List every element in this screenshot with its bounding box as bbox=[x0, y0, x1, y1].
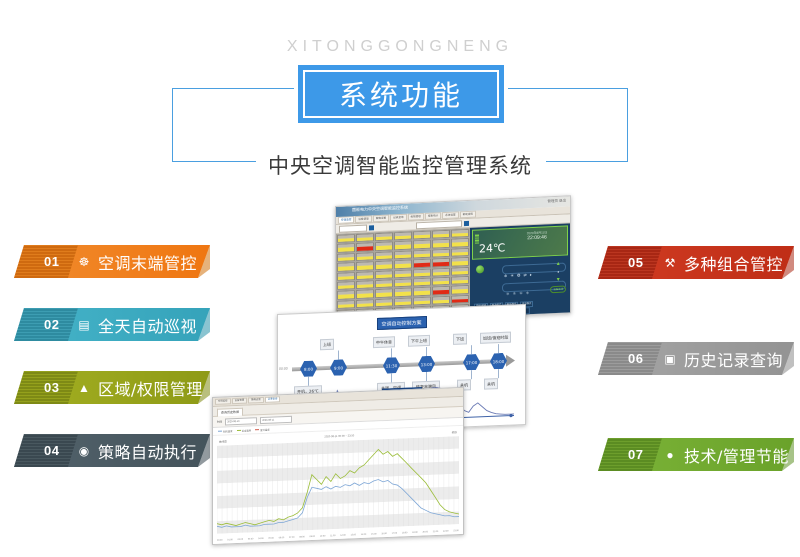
device-cell[interactable] bbox=[451, 295, 469, 304]
device-cell[interactable] bbox=[337, 253, 355, 262]
device-cell[interactable] bbox=[432, 230, 450, 239]
device-cell[interactable] bbox=[432, 258, 450, 267]
feature-banner-03[interactable]: 03 ▲ 区域/权限管理 bbox=[14, 371, 210, 404]
feature-number: 04 bbox=[44, 434, 59, 467]
fan-mid-icon: ⚛ bbox=[513, 291, 517, 296]
history-panel-title: 查询历史数据 bbox=[217, 408, 243, 417]
area-select[interactable] bbox=[339, 224, 367, 232]
timeline-tick bbox=[426, 372, 427, 381]
timeline-caption-above: 中午休息 bbox=[373, 336, 395, 347]
timeline-caption-above: 下班 bbox=[453, 333, 467, 344]
date-start-input[interactable]: 2020-08-10 bbox=[225, 417, 257, 425]
camera-icon: ● bbox=[662, 438, 678, 471]
dashboard-tab[interactable]: 报表统计 bbox=[425, 212, 441, 220]
dashboard-tab[interactable]: 记录查询 bbox=[390, 214, 406, 222]
timeline-caption-above: 上班 bbox=[320, 339, 334, 350]
timeline-tick bbox=[391, 348, 392, 357]
timeline-node[interactable]: 18:00 bbox=[490, 353, 507, 370]
search-input[interactable] bbox=[416, 220, 462, 229]
device-cell[interactable] bbox=[337, 281, 355, 290]
page-title-box: 系统功能 bbox=[298, 65, 504, 123]
device-cell[interactable] bbox=[451, 285, 469, 294]
screenshot-history-records[interactable]: 空调监控设备管理策略设置记录查询 查询历史数据 时间 2020-08-10 20… bbox=[212, 387, 464, 545]
device-cell[interactable] bbox=[356, 243, 374, 252]
feature-banner-02[interactable]: 02 ▤ 全天自动巡视 bbox=[14, 308, 210, 341]
x-tick-label: 16:00 bbox=[381, 533, 386, 535]
x-tick-label: 10:00 bbox=[320, 535, 325, 537]
device-cell[interactable] bbox=[394, 269, 412, 278]
device-cell[interactable] bbox=[413, 296, 431, 305]
current-temperature: 24℃ bbox=[479, 241, 505, 255]
history-tab[interactable]: 设备管理 bbox=[232, 398, 248, 405]
timeline-node[interactable]: 17:00 bbox=[463, 354, 480, 371]
device-cell[interactable] bbox=[413, 278, 431, 287]
device-cell[interactable] bbox=[394, 250, 412, 259]
timeline-tick bbox=[498, 344, 499, 353]
cloud-icon: ▲ bbox=[76, 371, 92, 404]
feature-label: 历史记录查询 bbox=[684, 342, 783, 375]
device-cell[interactable] bbox=[375, 289, 393, 298]
x-tick-label: 20:00 bbox=[422, 531, 427, 533]
device-cell[interactable] bbox=[451, 257, 469, 266]
chart-range: 2020-08-11 00:00 ~ 23:50 bbox=[324, 434, 354, 439]
timeline-node[interactable]: 8:00 bbox=[300, 360, 317, 377]
device-cell[interactable] bbox=[451, 248, 469, 257]
status-badge: 设备在线 bbox=[550, 286, 566, 294]
clock-display: 2020年8月11日 22:09:46 bbox=[517, 230, 557, 242]
timeline-tick bbox=[391, 373, 392, 382]
x-tick-label: 11:00 bbox=[330, 535, 335, 537]
status-side-column: ▲ ● ▼ 设备在线 bbox=[550, 262, 566, 294]
timeline-node[interactable]: 13:00 bbox=[418, 356, 435, 373]
feature-number: 07 bbox=[628, 438, 643, 471]
timeline-start-label: 00:00 bbox=[279, 367, 288, 371]
dashboard-tab[interactable]: 设备管理 bbox=[355, 215, 371, 223]
filter-label: 时间 bbox=[217, 420, 222, 424]
feature-label: 策略自动执行 bbox=[98, 434, 197, 467]
device-cell[interactable] bbox=[432, 296, 450, 305]
feature-number: 03 bbox=[44, 371, 59, 404]
device-cell[interactable] bbox=[337, 243, 355, 252]
feature-banner-01[interactable]: 01 ☸ 空调末端管控 bbox=[14, 245, 210, 278]
archive-icon: ▣ bbox=[662, 342, 678, 375]
x-tick-label: 02:00 bbox=[238, 539, 243, 541]
feature-banner-04[interactable]: 04 ◉ 策略自动执行 bbox=[14, 434, 210, 467]
x-tick-label: 12:00 bbox=[340, 535, 345, 537]
device-cell[interactable] bbox=[356, 290, 374, 299]
device-cell[interactable] bbox=[337, 262, 355, 271]
device-cell[interactable] bbox=[375, 298, 393, 307]
timeline-caption-above: 下午上班 bbox=[408, 335, 430, 346]
feature-label: 全天自动巡视 bbox=[98, 308, 197, 341]
wind-icon: ⇄ bbox=[523, 272, 526, 277]
feature-label: 空调末端管控 bbox=[98, 245, 197, 278]
feature-banner-05[interactable]: 05 ⚒ 多种组合管控 bbox=[598, 246, 794, 279]
legend-item: 回风温度 bbox=[218, 429, 233, 434]
x-tick-label: 08:00 bbox=[299, 536, 304, 538]
device-cell[interactable] bbox=[337, 272, 355, 281]
dashboard-tab[interactable]: 系统设置 bbox=[442, 211, 458, 219]
device-cell[interactable] bbox=[337, 300, 355, 309]
history-plot-wrapper: 曲线图 2020-08-11 00:00 ~ 23:50 缩放 00:0001:… bbox=[213, 426, 463, 545]
x-tick-label: 05:00 bbox=[268, 538, 273, 540]
up-arrow-icon: ▲ bbox=[556, 262, 561, 267]
fan-low-icon: ⚛ bbox=[506, 291, 510, 296]
device-cell[interactable] bbox=[356, 299, 374, 308]
dashboard-tab[interactable]: 策略设置 bbox=[373, 215, 389, 223]
dry-icon: ♦ bbox=[530, 272, 532, 277]
x-tick-label: 07:00 bbox=[289, 537, 294, 539]
device-cell[interactable] bbox=[375, 232, 393, 241]
device-cell[interactable] bbox=[413, 259, 431, 268]
x-tick-label: 13:00 bbox=[350, 534, 355, 536]
history-tab[interactable]: 记录查询 bbox=[265, 396, 281, 403]
device-cell[interactable] bbox=[451, 276, 469, 285]
x-tick-label: 03:00 bbox=[248, 538, 253, 540]
device-cell[interactable] bbox=[375, 261, 393, 270]
device-cell[interactable] bbox=[375, 242, 393, 251]
device-cell[interactable] bbox=[356, 261, 374, 270]
timeline-tick bbox=[308, 377, 309, 386]
device-cell[interactable] bbox=[451, 238, 469, 247]
device-cell[interactable] bbox=[394, 241, 412, 250]
dashboard-window-title: 国能电力中央空调智能监控系统 bbox=[352, 205, 408, 214]
fan-speed-row[interactable]: ⚛⚛ ⚛⚛ bbox=[506, 290, 529, 296]
mode-icon-row[interactable]: ❄☀ ❂⇄ ♦ bbox=[504, 272, 532, 278]
device-cell[interactable] bbox=[356, 233, 374, 242]
x-tick-label: 06:00 bbox=[279, 537, 284, 539]
device-cell[interactable] bbox=[432, 239, 450, 248]
dot-icon: ● bbox=[557, 270, 559, 275]
date-end-input[interactable]: 2020-08-11 bbox=[260, 415, 292, 423]
device-cell[interactable] bbox=[451, 266, 469, 275]
timeline-tick bbox=[426, 347, 427, 356]
device-cell[interactable] bbox=[413, 249, 431, 258]
x-tick-label: 21:00 bbox=[433, 531, 438, 533]
feature-number: 01 bbox=[44, 245, 59, 278]
feature-banner-06[interactable]: 06 ▣ 历史记录查询 bbox=[598, 342, 794, 375]
device-cell[interactable] bbox=[413, 231, 431, 240]
power-knob-icon[interactable] bbox=[476, 265, 484, 273]
x-tick-label: 22:00 bbox=[443, 531, 448, 533]
timeline-node[interactable]: 11:30 bbox=[383, 357, 400, 374]
history-tab[interactable]: 策略设置 bbox=[248, 397, 264, 404]
device-cell[interactable] bbox=[356, 252, 374, 261]
x-tick-label: 23:00 bbox=[453, 530, 458, 532]
page-subtitle: 中央空调智能监控管理系统 bbox=[0, 150, 800, 180]
snowflake-icon: ❄ bbox=[504, 273, 507, 278]
feature-label: 多种组合管控 bbox=[684, 246, 783, 279]
fan-icon: ❂ bbox=[517, 273, 520, 278]
legend-item: 室外温度 bbox=[255, 427, 270, 432]
device-cell[interactable] bbox=[337, 234, 355, 243]
x-tick-label: 04:00 bbox=[258, 538, 263, 540]
dashboard-tab[interactable]: 帮助说明 bbox=[460, 211, 476, 219]
fan-auto-icon: ⚛ bbox=[526, 290, 530, 295]
device-cell[interactable] bbox=[394, 278, 412, 287]
dashboard-tab[interactable]: 权限管理 bbox=[408, 213, 424, 221]
device-cell[interactable] bbox=[451, 229, 469, 238]
feature-label: 区域/权限管理 bbox=[98, 371, 203, 404]
key-icon: ⚒ bbox=[662, 246, 678, 279]
device-cell[interactable] bbox=[432, 277, 450, 286]
chart-label: 曲线图 bbox=[219, 439, 227, 443]
timeline-tick bbox=[338, 351, 339, 360]
device-cell[interactable] bbox=[394, 288, 412, 297]
header-pinyin: XITONGGONGNENG bbox=[0, 38, 800, 56]
search-icon[interactable] bbox=[464, 220, 469, 225]
zoom-label[interactable]: 缩放 bbox=[452, 430, 457, 434]
feature-label: 技术/管理节能 bbox=[684, 438, 789, 471]
x-tick-label: 15:00 bbox=[371, 533, 376, 535]
device-cell[interactable] bbox=[413, 240, 431, 249]
x-tick-label: 14:00 bbox=[361, 534, 366, 536]
clock-time: 22:09:46 bbox=[517, 235, 557, 242]
device-cell[interactable] bbox=[394, 260, 412, 269]
timeline-tick bbox=[471, 345, 472, 354]
home-gear-icon: ◉ bbox=[76, 434, 92, 467]
temperature-display: 2020年8月11日 22:09:46 24℃ bbox=[472, 225, 568, 259]
device-cell[interactable] bbox=[375, 270, 393, 279]
history-line-chart: 00:0001:0002:0003:0004:0005:0006:0007:00… bbox=[217, 436, 459, 534]
sun-icon: ☀ bbox=[510, 273, 514, 278]
x-tick-label: 09:00 bbox=[310, 536, 315, 538]
device-cell[interactable] bbox=[337, 290, 355, 299]
x-tick-label: 00:00 bbox=[217, 540, 222, 542]
fan-high-icon: ⚛ bbox=[519, 290, 523, 295]
x-tick-label: 18:00 bbox=[402, 532, 407, 534]
feature-number: 02 bbox=[44, 308, 59, 341]
timeline-caption-above: 加班/值班时段 bbox=[480, 332, 511, 344]
dashboard-user-info: 管理员 退出 bbox=[548, 199, 566, 205]
page-title: 系统功能 bbox=[339, 74, 463, 114]
legend-item: 设定温度 bbox=[237, 428, 252, 433]
device-cell[interactable] bbox=[413, 268, 431, 277]
timeline-tick bbox=[471, 370, 472, 379]
feature-number: 05 bbox=[628, 246, 643, 279]
chevron-down-icon[interactable] bbox=[369, 225, 374, 230]
device-cell[interactable] bbox=[432, 267, 450, 276]
book-icon: ▤ bbox=[76, 308, 92, 341]
poster-canvas: XITONGGONGNENG 系统功能 中央空调智能监控管理系统 01 ☸ 空调… bbox=[0, 0, 800, 557]
timeline-arrow-icon bbox=[506, 354, 515, 366]
device-cell[interactable] bbox=[432, 249, 450, 258]
device-cell[interactable] bbox=[356, 280, 374, 289]
device-cell[interactable] bbox=[432, 286, 450, 295]
x-tick-label: 01:00 bbox=[227, 539, 232, 541]
timeline-title: 空调自动控制方案 bbox=[376, 316, 426, 330]
timeline-tick bbox=[498, 369, 499, 378]
device-cell[interactable] bbox=[375, 279, 393, 288]
device-cell[interactable] bbox=[413, 287, 431, 296]
history-tab[interactable]: 空调监控 bbox=[215, 398, 231, 405]
device-cell[interactable] bbox=[375, 251, 393, 260]
device-cell[interactable] bbox=[394, 297, 412, 306]
screenshot-monitor-dashboard[interactable]: 国能电力中央空调智能监控系统 管理员 退出 空调监控设备管理策略设置记录查询权限… bbox=[335, 195, 571, 324]
timeline-node[interactable]: 9:00 bbox=[330, 359, 347, 376]
feature-banner-07[interactable]: 07 ● 技术/管理节能 bbox=[598, 438, 794, 471]
ac-unit-icon: ☸ bbox=[76, 245, 92, 278]
down-arrow-icon: ▼ bbox=[556, 278, 561, 283]
feature-number: 06 bbox=[628, 342, 643, 375]
device-cell[interactable] bbox=[394, 232, 412, 241]
x-tick-label: 19:00 bbox=[412, 532, 417, 534]
device-cell[interactable] bbox=[356, 271, 374, 280]
dashboard-tab[interactable]: 空调监控 bbox=[338, 216, 354, 224]
x-tick-label: 17:00 bbox=[392, 533, 397, 535]
